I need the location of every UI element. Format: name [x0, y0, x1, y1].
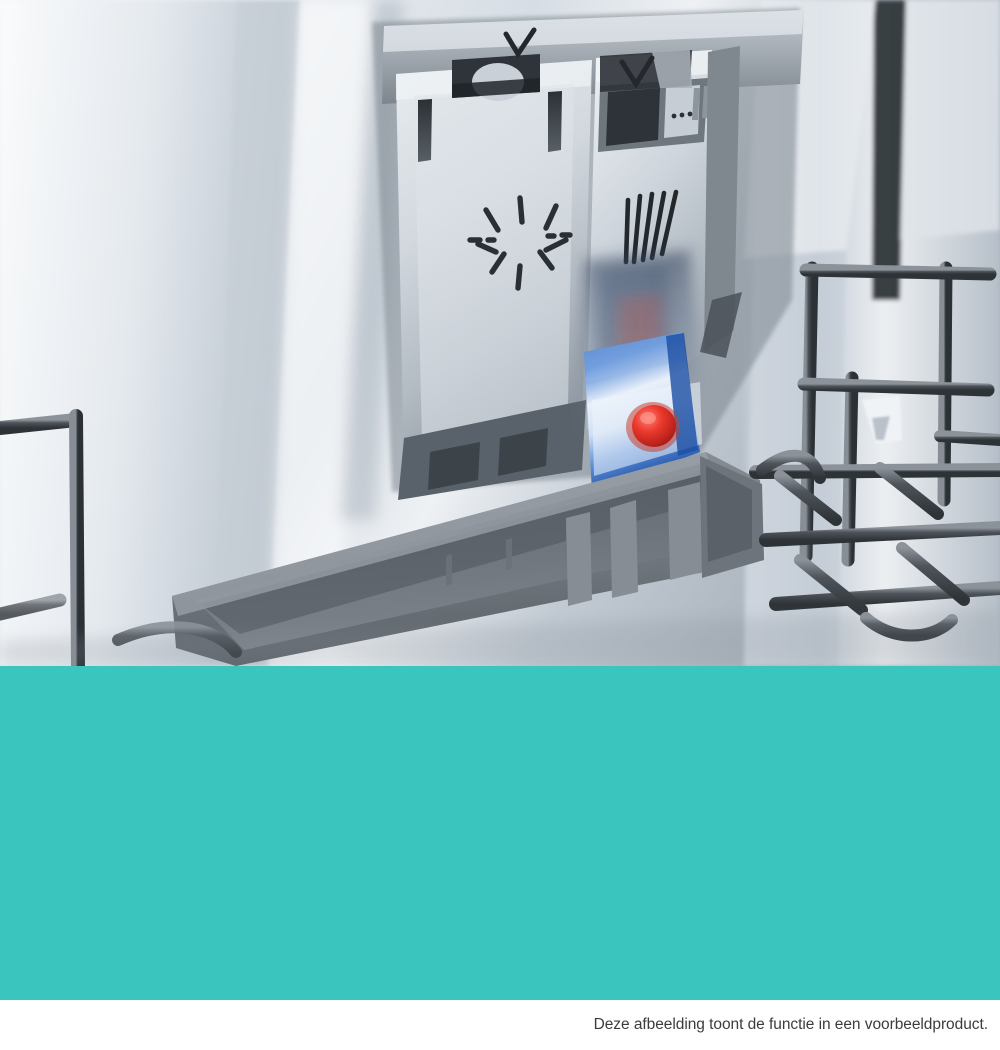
product-photo	[0, 0, 1000, 666]
dishwasher-interior-illustration	[0, 0, 1000, 666]
tablet-gel-center	[632, 405, 676, 447]
detergent-chamber-opening	[606, 88, 660, 146]
left-tub-wall	[0, 0, 300, 666]
dispenser-vent-slot	[548, 91, 562, 152]
image-disclaimer-caption: Deze afbeelding toont de functie in een …	[594, 1015, 988, 1035]
feature-card: doseerAssistent Doseert uw vaatwasmiddel…	[0, 0, 1000, 1050]
footer-bar: Deze afbeelding toont de functie in een …	[0, 1000, 1000, 1050]
dispenser-vent-slot	[418, 99, 432, 162]
feature-text-band: doseerAssistent Doseert uw vaatwasmiddel…	[0, 666, 1000, 1000]
